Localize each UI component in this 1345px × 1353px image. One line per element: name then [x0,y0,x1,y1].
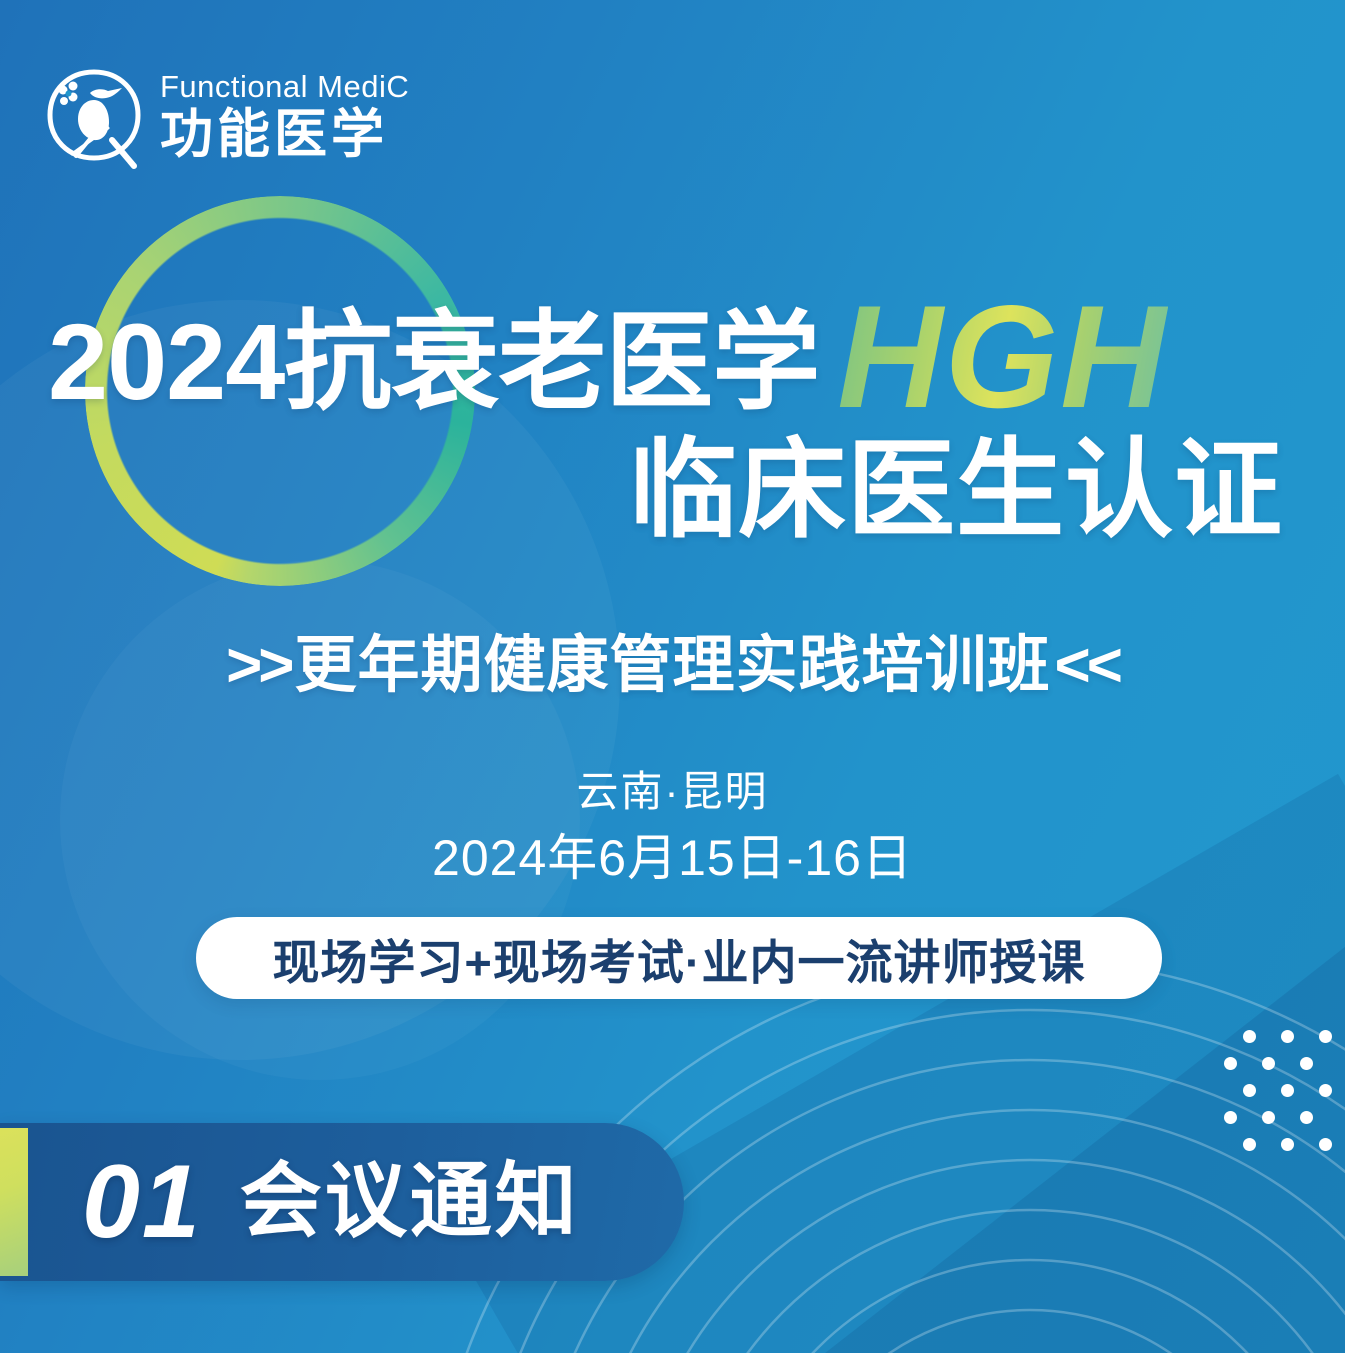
dot-grid-decoration [1205,1030,1335,1170]
headline-line-2: 临床医生认证 [629,436,1283,544]
event-date: 2024年6月15日-16日 [0,818,1345,890]
logo-english-name: Functional MediC [160,71,409,102]
bird-in-circle-logo-icon [42,62,146,170]
headline-line-1: 2024抗衰老医学 HGH [48,282,1168,416]
event-location: 云南·昆明 [0,758,1345,819]
section-number: 01 [82,1150,202,1254]
section-01-capsule: 01 会议通知 [0,1123,684,1281]
course-subtitle: >>更年期健康管理实践培训班<< [0,614,1345,704]
event-poster: Functional MediC 功能医学 2024抗衰老医学 HGH 临床医生… [0,0,1345,1353]
accent-bar-decoration [0,1128,28,1276]
logo-chinese-name: 功能医学 [160,108,409,161]
headline-chinese-primary: 2024抗衰老医学 [48,308,819,416]
chevron-left-decoration: >> [222,631,294,700]
chevron-right-decoration: << [1051,631,1123,700]
logo-text-block: Functional MediC 功能医学 [160,71,409,161]
highlight-badge: 现场学习+现场考试·业内一流讲师授课 [196,917,1162,999]
section-title: 会议通知 [240,1161,580,1243]
brand-logo: Functional MediC 功能医学 [42,62,409,170]
highlight-badge-text: 现场学习+现场考试·业内一流讲师授课 [272,924,1085,993]
course-subtitle-text: 更年期健康管理实践培训班 [294,631,1050,700]
headline-hgh: HGH [837,290,1167,424]
